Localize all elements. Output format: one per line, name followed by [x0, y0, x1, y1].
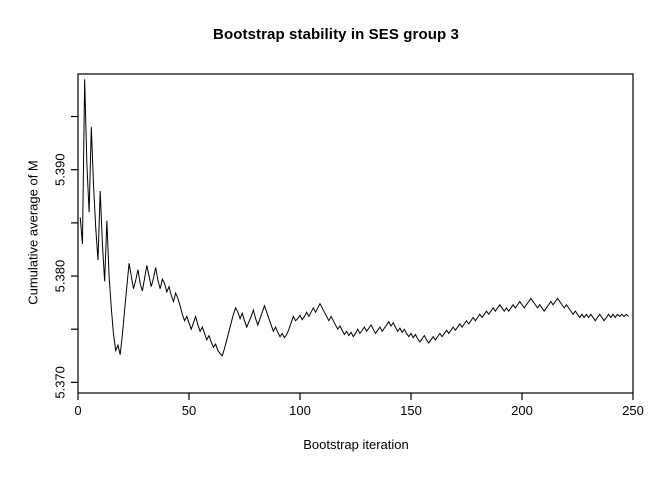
data-series	[80, 79, 628, 355]
series-line	[80, 79, 628, 355]
chart-figure: Bootstrap stability in SES group 3 Cumul…	[0, 0, 672, 480]
y-tick-label: 5.370	[53, 366, 68, 399]
x-axis: 050100150200250	[74, 393, 643, 418]
plot-frame	[78, 74, 633, 393]
x-tick-label: 250	[622, 403, 644, 418]
x-tick-label: 0	[74, 403, 81, 418]
x-tick-label: 50	[182, 403, 196, 418]
plot-area: 5.3705.3805.390 050100150200250	[0, 0, 672, 480]
y-tick-label: 5.380	[53, 260, 68, 293]
x-tick-label: 100	[289, 403, 311, 418]
y-axis: 5.3705.3805.390	[53, 117, 79, 399]
x-tick-label: 200	[511, 403, 533, 418]
y-tick-label: 5.390	[53, 153, 68, 186]
x-tick-label: 150	[400, 403, 422, 418]
